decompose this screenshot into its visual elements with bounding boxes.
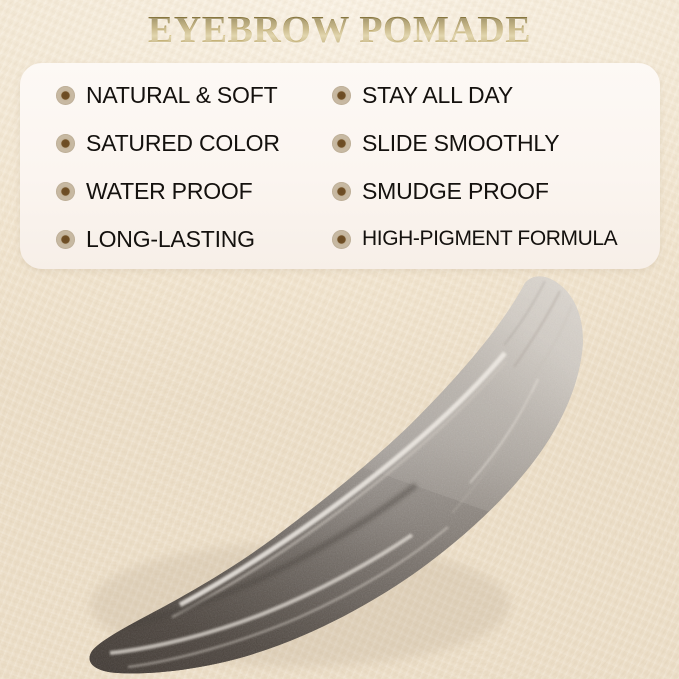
feature-item-long-lasting: LONG-LASTING <box>20 226 320 253</box>
bullet-dot-icon <box>56 86 75 105</box>
features-grid: NATURAL & SOFT STAY ALL DAY SATURED COLO… <box>20 63 660 269</box>
feature-label: STAY ALL DAY <box>362 82 513 109</box>
bullet-dot-icon <box>56 182 75 201</box>
feature-label: LONG-LASTING <box>86 226 255 253</box>
feature-item-satured-color: SATURED COLOR <box>20 130 320 157</box>
bullet-dot-icon <box>332 182 351 201</box>
feature-item-smudge-proof: SMUDGE PROOF <box>320 178 660 205</box>
bullet-dot-icon <box>332 134 351 153</box>
feature-item-natural-soft: NATURAL & SOFT <box>20 82 320 109</box>
pomade-swatch-svg <box>0 275 679 679</box>
feature-label: WATER PROOF <box>86 178 252 205</box>
bullet-dot-icon <box>56 134 75 153</box>
feature-label: SMUDGE PROOF <box>362 178 549 205</box>
feature-label: SLIDE SMOOTHLY <box>362 130 559 157</box>
bullet-dot-icon <box>56 230 75 249</box>
feature-label: HIGH-PIGMENT FORMULA <box>362 227 617 251</box>
pomade-swatch-image <box>0 275 679 679</box>
feature-item-high-pigment-formula: HIGH-PIGMENT FORMULA <box>320 227 660 251</box>
bullet-dot-icon <box>332 230 351 249</box>
page-title: EYEBROW POMADE <box>148 11 531 51</box>
feature-item-water-proof: WATER PROOF <box>20 178 320 205</box>
feature-label: SATURED COLOR <box>86 130 280 157</box>
feature-item-stay-all-day: STAY ALL DAY <box>320 82 660 109</box>
feature-label: NATURAL & SOFT <box>86 82 277 109</box>
bullet-dot-icon <box>332 86 351 105</box>
features-card: NATURAL & SOFT STAY ALL DAY SATURED COLO… <box>20 63 660 269</box>
product-listing-image: EYEBROW POMADE NATURAL & SOFT STAY ALL D… <box>0 0 679 679</box>
title-container: EYEBROW POMADE <box>0 11 679 51</box>
feature-item-slide-smoothly: SLIDE SMOOTHLY <box>320 130 660 157</box>
